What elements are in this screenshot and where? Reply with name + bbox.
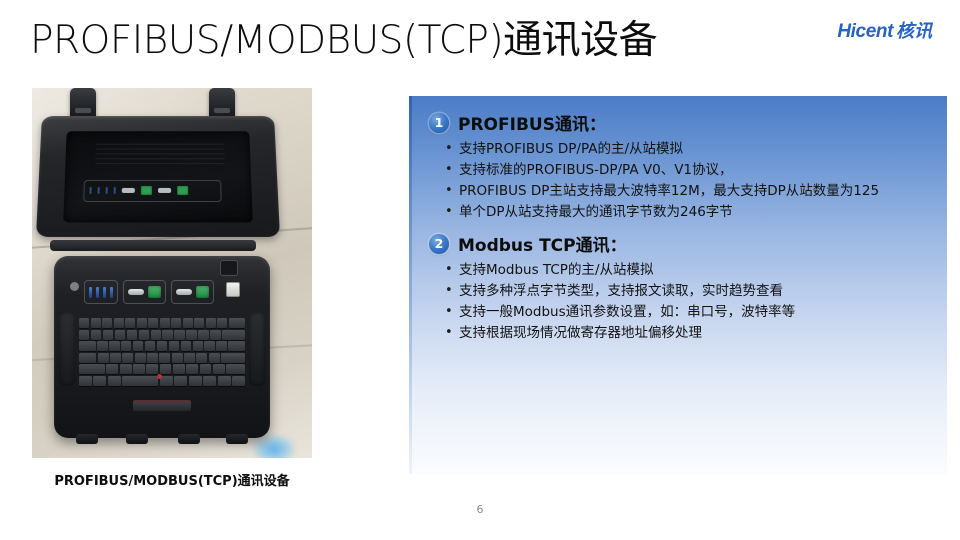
list-item: 支持PROFIBUS DP/PA的主/从站模拟 xyxy=(429,139,879,160)
ethernet-port xyxy=(226,282,240,297)
lid-interior xyxy=(63,131,253,222)
lid-vent-texture xyxy=(95,144,225,167)
lid-green-terminal-2 xyxy=(177,186,188,195)
list-item: 支持Modbus TCP的主/从站模拟 xyxy=(429,260,795,281)
case-foot-1 xyxy=(76,434,98,444)
case-foot-3 xyxy=(178,434,200,444)
lid-db9-connector-2 xyxy=(158,188,171,193)
photo-caption: PROFIBUS/MODBUS(TCP)通讯设备 xyxy=(32,470,312,489)
section-modbus-tcp: 2 Modbus TCP通讯： 支持Modbus TCP的主/从站模拟 支持多种… xyxy=(429,231,795,344)
pa-terminal-2 xyxy=(196,286,209,298)
keyboard-row xyxy=(79,364,245,374)
lid-green-terminal-1 xyxy=(140,186,151,195)
keyboard-row xyxy=(79,376,245,386)
section-title: Modbus TCP通讯： xyxy=(458,231,627,256)
section-bullet-list: 支持Modbus TCP的主/从站模拟 支持多种浮点字节类型，支持报文读取，实时… xyxy=(429,260,795,344)
case-foam-rail-left xyxy=(59,312,75,386)
lid-io-panel xyxy=(83,180,222,202)
brand-logo: Hicent 核讯 xyxy=(837,17,932,43)
panel-left-accent-bar xyxy=(409,96,412,474)
content-panel: 1 PROFIBUS通讯： 支持PROFIBUS DP/PA的主/从站模拟 支持… xyxy=(409,96,947,474)
case-foot-4 xyxy=(226,434,248,444)
pa-terminal-1 xyxy=(148,286,161,298)
lid-db9-connector-1 xyxy=(121,188,134,193)
section-profibus: 1 PROFIBUS通讯： 支持PROFIBUS DP/PA的主/从站模拟 支持… xyxy=(429,110,879,223)
page-title: PROFIBUS/MODBUS(TCP)通讯设备 xyxy=(30,14,657,68)
laptop-keyboard xyxy=(79,318,245,410)
section-title: PROFIBUS通讯： xyxy=(458,110,606,135)
status-led-2 xyxy=(96,287,99,298)
keyboard-row xyxy=(79,341,245,351)
list-item: 支持一般Modbus通讯参数设置，如：串口号，波特率等 xyxy=(429,302,795,323)
slide-root: PROFIBUS/MODBUS(TCP)通讯设备 Hicent 核讯 xyxy=(0,0,960,540)
section-header: 1 PROFIBUS通讯： xyxy=(429,110,879,135)
logo-cjk-text: 核讯 xyxy=(896,17,932,43)
section-header: 2 Modbus TCP通讯： xyxy=(429,231,795,256)
lid-led-2 xyxy=(97,187,99,194)
io-connector-panel xyxy=(84,280,214,304)
power-connector xyxy=(220,260,238,276)
product-photo xyxy=(32,88,312,458)
status-led-4 xyxy=(110,287,113,298)
dp-port-1 xyxy=(128,289,144,295)
case-lid xyxy=(36,116,280,237)
list-item: 支持根据现场情况做寄存器地址偏移处理 xyxy=(429,323,795,344)
case-base xyxy=(54,256,270,438)
list-item: PROFIBUS DP主站支持最大波特率12M，最大支持DP从站数量为125 xyxy=(429,181,879,202)
base-indicator-dot xyxy=(70,282,79,291)
lid-led-3 xyxy=(105,187,107,194)
touchpad xyxy=(133,400,191,411)
list-item: 支持标准的PROFIBUS-DP/PA V0、V1协议， xyxy=(429,160,879,181)
keyboard-row xyxy=(79,330,245,340)
status-led-3 xyxy=(103,287,106,298)
section-bullet-list: 支持PROFIBUS DP/PA的主/从站模拟 支持标准的PROFIBUS-DP… xyxy=(429,139,879,223)
keyboard-row xyxy=(79,318,245,328)
case-foot-2 xyxy=(126,434,148,444)
case-foam-rail-right xyxy=(249,312,265,386)
section-number-badge: 2 xyxy=(429,234,449,254)
page-number: 6 xyxy=(0,503,960,516)
io-port-group-1 xyxy=(123,280,166,304)
list-item: 支持多种浮点字节类型，支持报文读取，实时趋势查看 xyxy=(429,281,795,302)
logo-latin-text: Hicent xyxy=(837,21,893,43)
case-hinge xyxy=(50,240,256,251)
section-number-badge: 1 xyxy=(429,113,449,133)
io-led-group xyxy=(84,280,118,304)
lid-led-1 xyxy=(89,187,91,194)
list-item: 单个DP从站支持最大的通讯字节数为246字节 xyxy=(429,202,879,223)
keyboard-row xyxy=(79,353,245,363)
io-port-group-2 xyxy=(171,280,214,304)
dp-port-2 xyxy=(176,289,192,295)
status-led-1 xyxy=(89,287,92,298)
trackpoint-nub xyxy=(157,374,162,379)
lid-led-4 xyxy=(113,187,115,194)
